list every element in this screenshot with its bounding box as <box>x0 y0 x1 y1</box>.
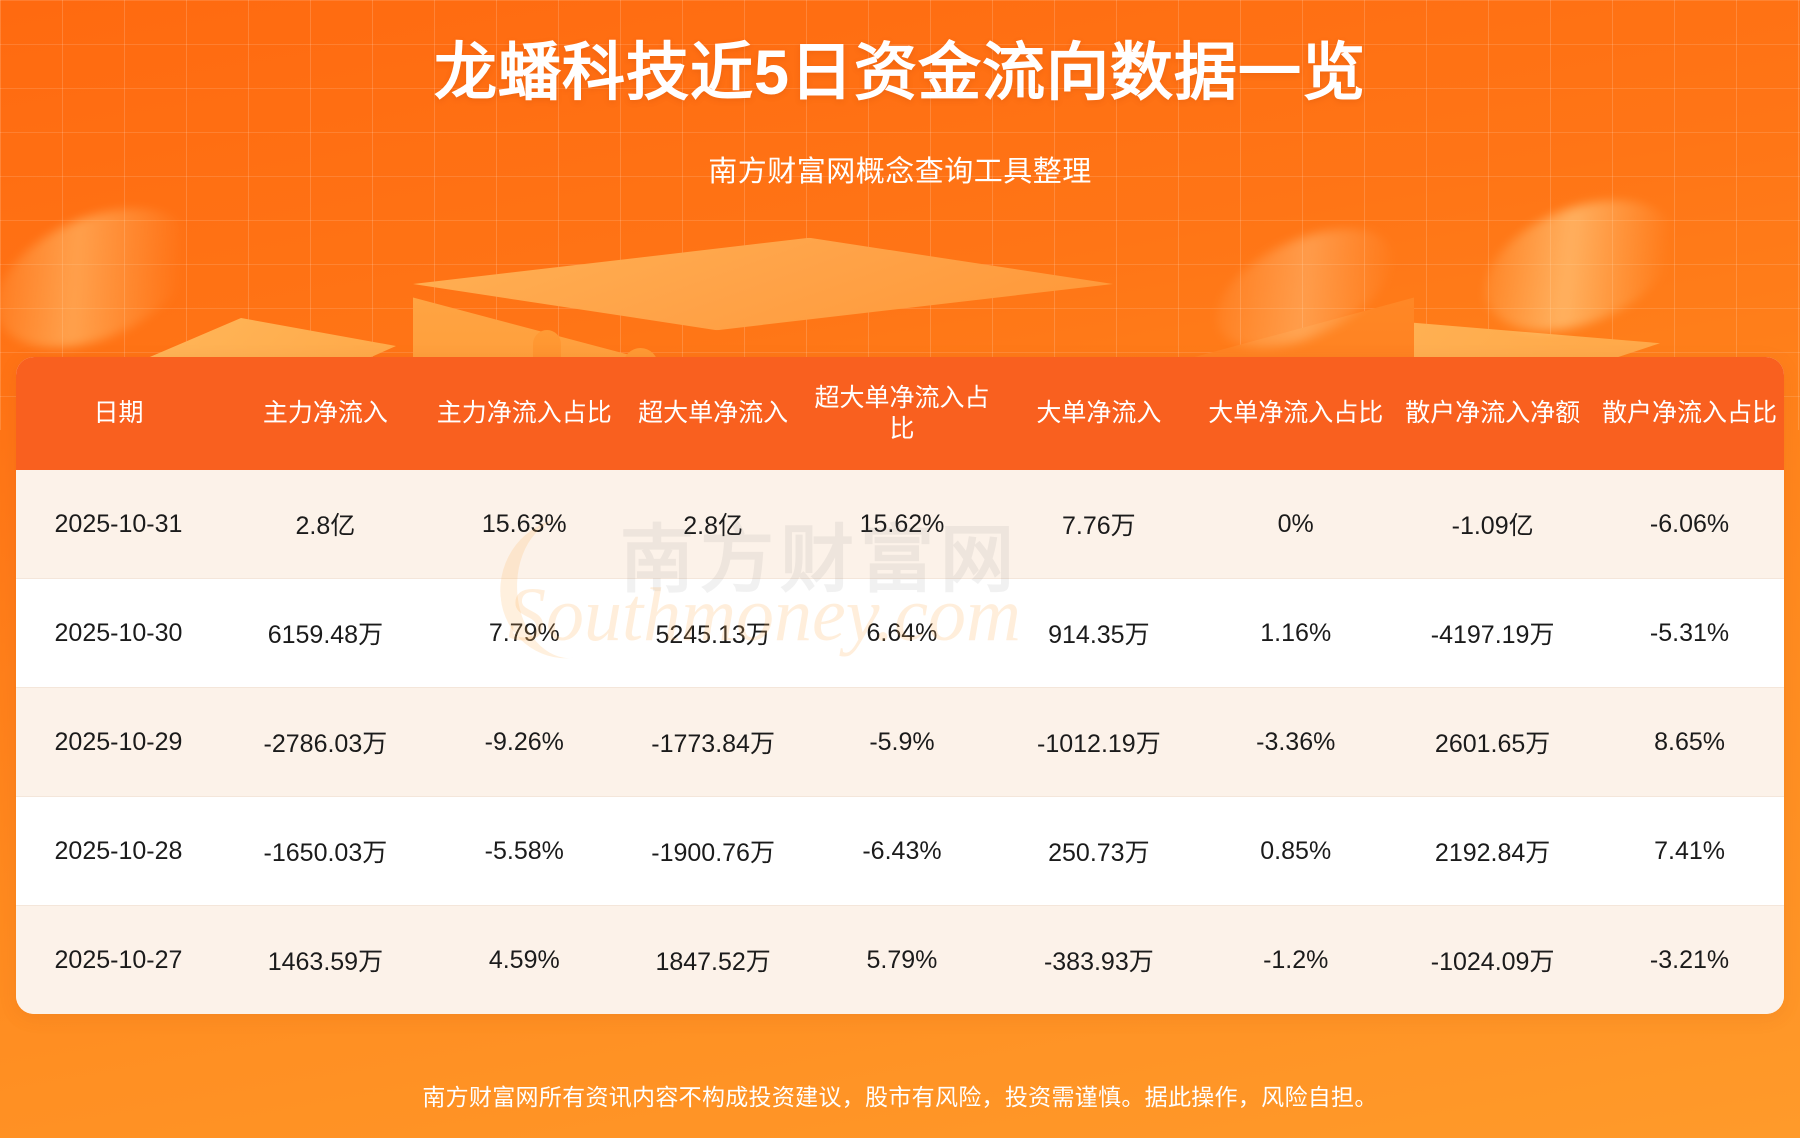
table-row: 2025-10-27 1463.59万 4.59% 1847.52万 5.79%… <box>16 906 1784 1015</box>
column-header-large-net: 大单净流入 <box>996 357 1201 470</box>
cell-retail-net: -4197.19万 <box>1390 579 1595 688</box>
cell-main-net: 2.8亿 <box>221 470 430 579</box>
table-header: 日期 主力净流入 主力净流入占比 超大单净流入 超大单净流入占比 大单净流入 大… <box>16 357 1784 470</box>
cell-xlarge-pct: -5.9% <box>808 688 997 797</box>
cell-main-pct: -5.58% <box>430 797 619 906</box>
cell-retail-pct: -5.31% <box>1595 579 1784 688</box>
column-header-main-net: 主力净流入 <box>221 357 430 470</box>
cell-large-pct: 0% <box>1201 470 1390 579</box>
cell-retail-net: 2192.84万 <box>1390 797 1595 906</box>
column-header-retail-net: 散户净流入净额 <box>1390 357 1595 470</box>
fund-flow-table: 日期 主力净流入 主力净流入占比 超大单净流入 超大单净流入占比 大单净流入 大… <box>16 357 1784 1014</box>
cell-large-net: 914.35万 <box>996 579 1201 688</box>
cell-date: 2025-10-28 <box>16 797 221 906</box>
column-header-large-net-pct: 大单净流入占比 <box>1201 357 1390 470</box>
cell-large-net: -383.93万 <box>996 906 1201 1015</box>
cell-xlarge-net: -1900.76万 <box>619 797 808 906</box>
cell-large-pct: 1.16% <box>1201 579 1390 688</box>
cell-large-pct: 0.85% <box>1201 797 1390 906</box>
cell-xlarge-pct: 15.62% <box>808 470 997 579</box>
table-row: 2025-10-29 -2786.03万 -9.26% -1773.84万 -5… <box>16 688 1784 797</box>
table-row: 2025-10-28 -1650.03万 -5.58% -1900.76万 -6… <box>16 797 1784 906</box>
cell-retail-pct: 8.65% <box>1595 688 1784 797</box>
page-subtitle: 南方财富网概念查询工具整理 <box>0 148 1800 190</box>
cell-date: 2025-10-27 <box>16 906 221 1015</box>
cell-retail-net: -1024.09万 <box>1390 906 1595 1015</box>
cell-retail-pct: -3.21% <box>1595 906 1784 1015</box>
cell-xlarge-pct: 5.79% <box>808 906 997 1015</box>
cell-date: 2025-10-31 <box>16 470 221 579</box>
cell-main-pct: -9.26% <box>430 688 619 797</box>
cell-main-pct: 7.79% <box>430 579 619 688</box>
cell-large-net: 7.76万 <box>996 470 1201 579</box>
cell-xlarge-net: 2.8亿 <box>619 470 808 579</box>
cell-main-net: 6159.48万 <box>221 579 430 688</box>
cell-main-pct: 15.63% <box>430 470 619 579</box>
infographic-poster: 龙蟠科技近5日资金流向数据一览 南方财富网概念查询工具整理 日期 主力净流入 主… <box>0 0 1800 1138</box>
cell-xlarge-net: 5245.13万 <box>619 579 808 688</box>
cell-main-net: -1650.03万 <box>221 797 430 906</box>
cell-main-net: 1463.59万 <box>221 906 430 1015</box>
disclaimer-text: 南方财富网所有资讯内容不构成投资建议，股市有风险，投资需谨慎。据此操作，风险自担… <box>0 1078 1800 1112</box>
light-streak-middle <box>1199 204 1412 371</box>
page-title: 龙蟠科技近5日资金流向数据一览 <box>0 36 1800 110</box>
light-streak-right <box>1466 175 1695 357</box>
cell-date: 2025-10-29 <box>16 688 221 797</box>
cell-xlarge-net: -1773.84万 <box>619 688 808 797</box>
cell-date: 2025-10-30 <box>16 579 221 688</box>
cell-xlarge-net: 1847.52万 <box>619 906 808 1015</box>
cell-large-net: 250.73万 <box>996 797 1201 906</box>
cell-large-net: -1012.19万 <box>996 688 1201 797</box>
cell-large-pct: -3.36% <box>1201 688 1390 797</box>
table-body: 2025-10-31 2.8亿 15.63% 2.8亿 15.62% 7.76万… <box>16 470 1784 1014</box>
cell-retail-pct: 7.41% <box>1595 797 1784 906</box>
column-header-date: 日期 <box>16 357 221 470</box>
column-header-xlarge-net-pct: 超大单净流入占比 <box>808 357 997 470</box>
light-streak-left <box>0 180 215 375</box>
table-row: 2025-10-31 2.8亿 15.63% 2.8亿 15.62% 7.76万… <box>16 470 1784 579</box>
cell-xlarge-pct: 6.64% <box>808 579 997 688</box>
column-header-xlarge-net: 超大单净流入 <box>619 357 808 470</box>
cell-main-net: -2786.03万 <box>221 688 430 797</box>
podium-center-block-top <box>367 238 1159 330</box>
cell-retail-net: 2601.65万 <box>1390 688 1595 797</box>
cell-retail-net: -1.09亿 <box>1390 470 1595 579</box>
fund-flow-table-card: 日期 主力净流入 主力净流入占比 超大单净流入 超大单净流入占比 大单净流入 大… <box>16 357 1784 1014</box>
column-header-retail-net-pct: 散户净流入占比 <box>1595 357 1784 470</box>
cell-main-pct: 4.59% <box>430 906 619 1015</box>
cell-large-pct: -1.2% <box>1201 906 1390 1015</box>
table-row: 2025-10-30 6159.48万 7.79% 5245.13万 6.64%… <box>16 579 1784 688</box>
cell-retail-pct: -6.06% <box>1595 470 1784 579</box>
column-header-main-net-pct: 主力净流入占比 <box>430 357 619 470</box>
table-header-row: 日期 主力净流入 主力净流入占比 超大单净流入 超大单净流入占比 大单净流入 大… <box>16 357 1784 470</box>
cell-xlarge-pct: -6.43% <box>808 797 997 906</box>
